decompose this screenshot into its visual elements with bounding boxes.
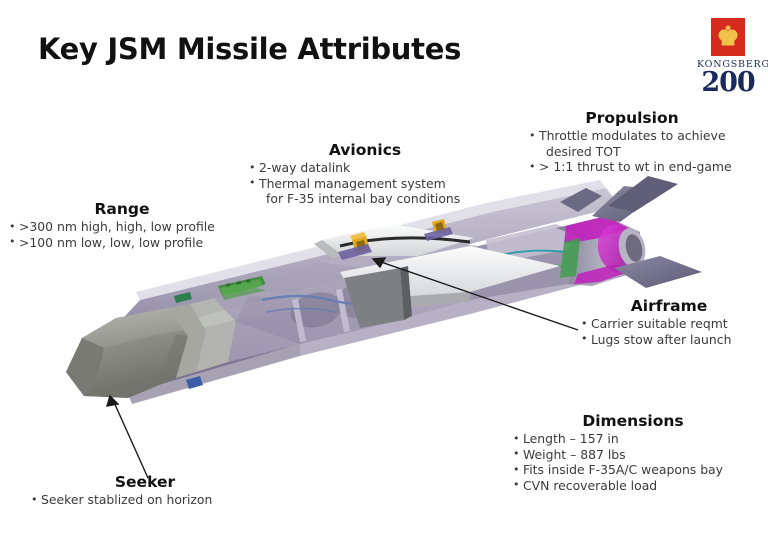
callout-avionics-list: 2-way datalink Thermal management system… — [248, 160, 488, 207]
callout-range-heading: Range — [0, 200, 258, 218]
list-item: Fits inside F-35A/C weapons bay — [512, 462, 762, 478]
list-item: Weight – 887 lbs — [512, 447, 762, 463]
callout-airframe-list: Carrier suitable reqmt Lugs stow after l… — [580, 316, 768, 347]
callout-range-list: >300 nm high, high, low profile >100 nm … — [8, 219, 258, 250]
list-item: CVN recoverable load — [512, 478, 762, 494]
callout-seeker-list: Seeker stablized on horizon — [30, 492, 260, 508]
slide-canvas: Key JSM Missile Attributes ♚ KONGSBERG 2… — [0, 0, 768, 556]
page-title: Key JSM Missile Attributes — [38, 32, 461, 66]
list-item: 2-way datalink — [248, 160, 488, 176]
callout-airframe: Airframe Carrier suitable reqmt Lugs sto… — [580, 297, 768, 347]
callout-airframe-heading: Airframe — [568, 297, 768, 315]
list-item: >100 nm low, low, low profile — [8, 235, 258, 251]
list-item: Lugs stow after launch — [580, 332, 768, 348]
kongsberg-anniversary: 200 — [697, 69, 759, 96]
callout-seeker-heading: Seeker — [30, 473, 260, 491]
list-item: Seeker stablized on horizon — [30, 492, 260, 508]
list-item: Thermal management system — [248, 176, 488, 192]
callout-propulsion: Propulsion Throttle modulates to achieve… — [528, 109, 768, 175]
callout-seeker: Seeker Seeker stablized on horizon — [30, 473, 260, 508]
callout-avionics-heading: Avionics — [242, 141, 488, 159]
callout-avionics: Avionics 2-way datalink Thermal manageme… — [248, 141, 488, 207]
list-item-continuation: desired TOT — [528, 144, 768, 160]
list-item-continuation: for F-35 internal bay conditions — [248, 191, 488, 207]
list-item: >300 nm high, high, low profile — [8, 219, 258, 235]
callout-propulsion-heading: Propulsion — [496, 109, 768, 127]
airframe-leader — [378, 261, 578, 330]
callout-dimensions-heading: Dimensions — [504, 412, 762, 430]
callout-range: Range >300 nm high, high, low profile >1… — [8, 200, 258, 250]
callout-propulsion-list: Throttle modulates to achieve desired TO… — [528, 128, 768, 175]
kongsberg-logo: ♚ KONGSBERG 200 — [697, 18, 759, 96]
royal-crest-icon: ♚ — [716, 24, 739, 50]
list-item: Throttle modulates to achieve — [528, 128, 768, 144]
callout-dimensions: Dimensions Length – 157 in Weight – 887 … — [512, 412, 762, 493]
seeker-leader — [113, 400, 148, 478]
callout-dimensions-list: Length – 157 in Weight – 887 lbs Fits in… — [512, 431, 762, 493]
list-item: Length – 157 in — [512, 431, 762, 447]
list-item: Carrier suitable reqmt — [580, 316, 768, 332]
list-item: > 1:1 thrust to wt in end-game — [528, 159, 768, 175]
kongsberg-shield-icon: ♚ — [711, 18, 745, 56]
